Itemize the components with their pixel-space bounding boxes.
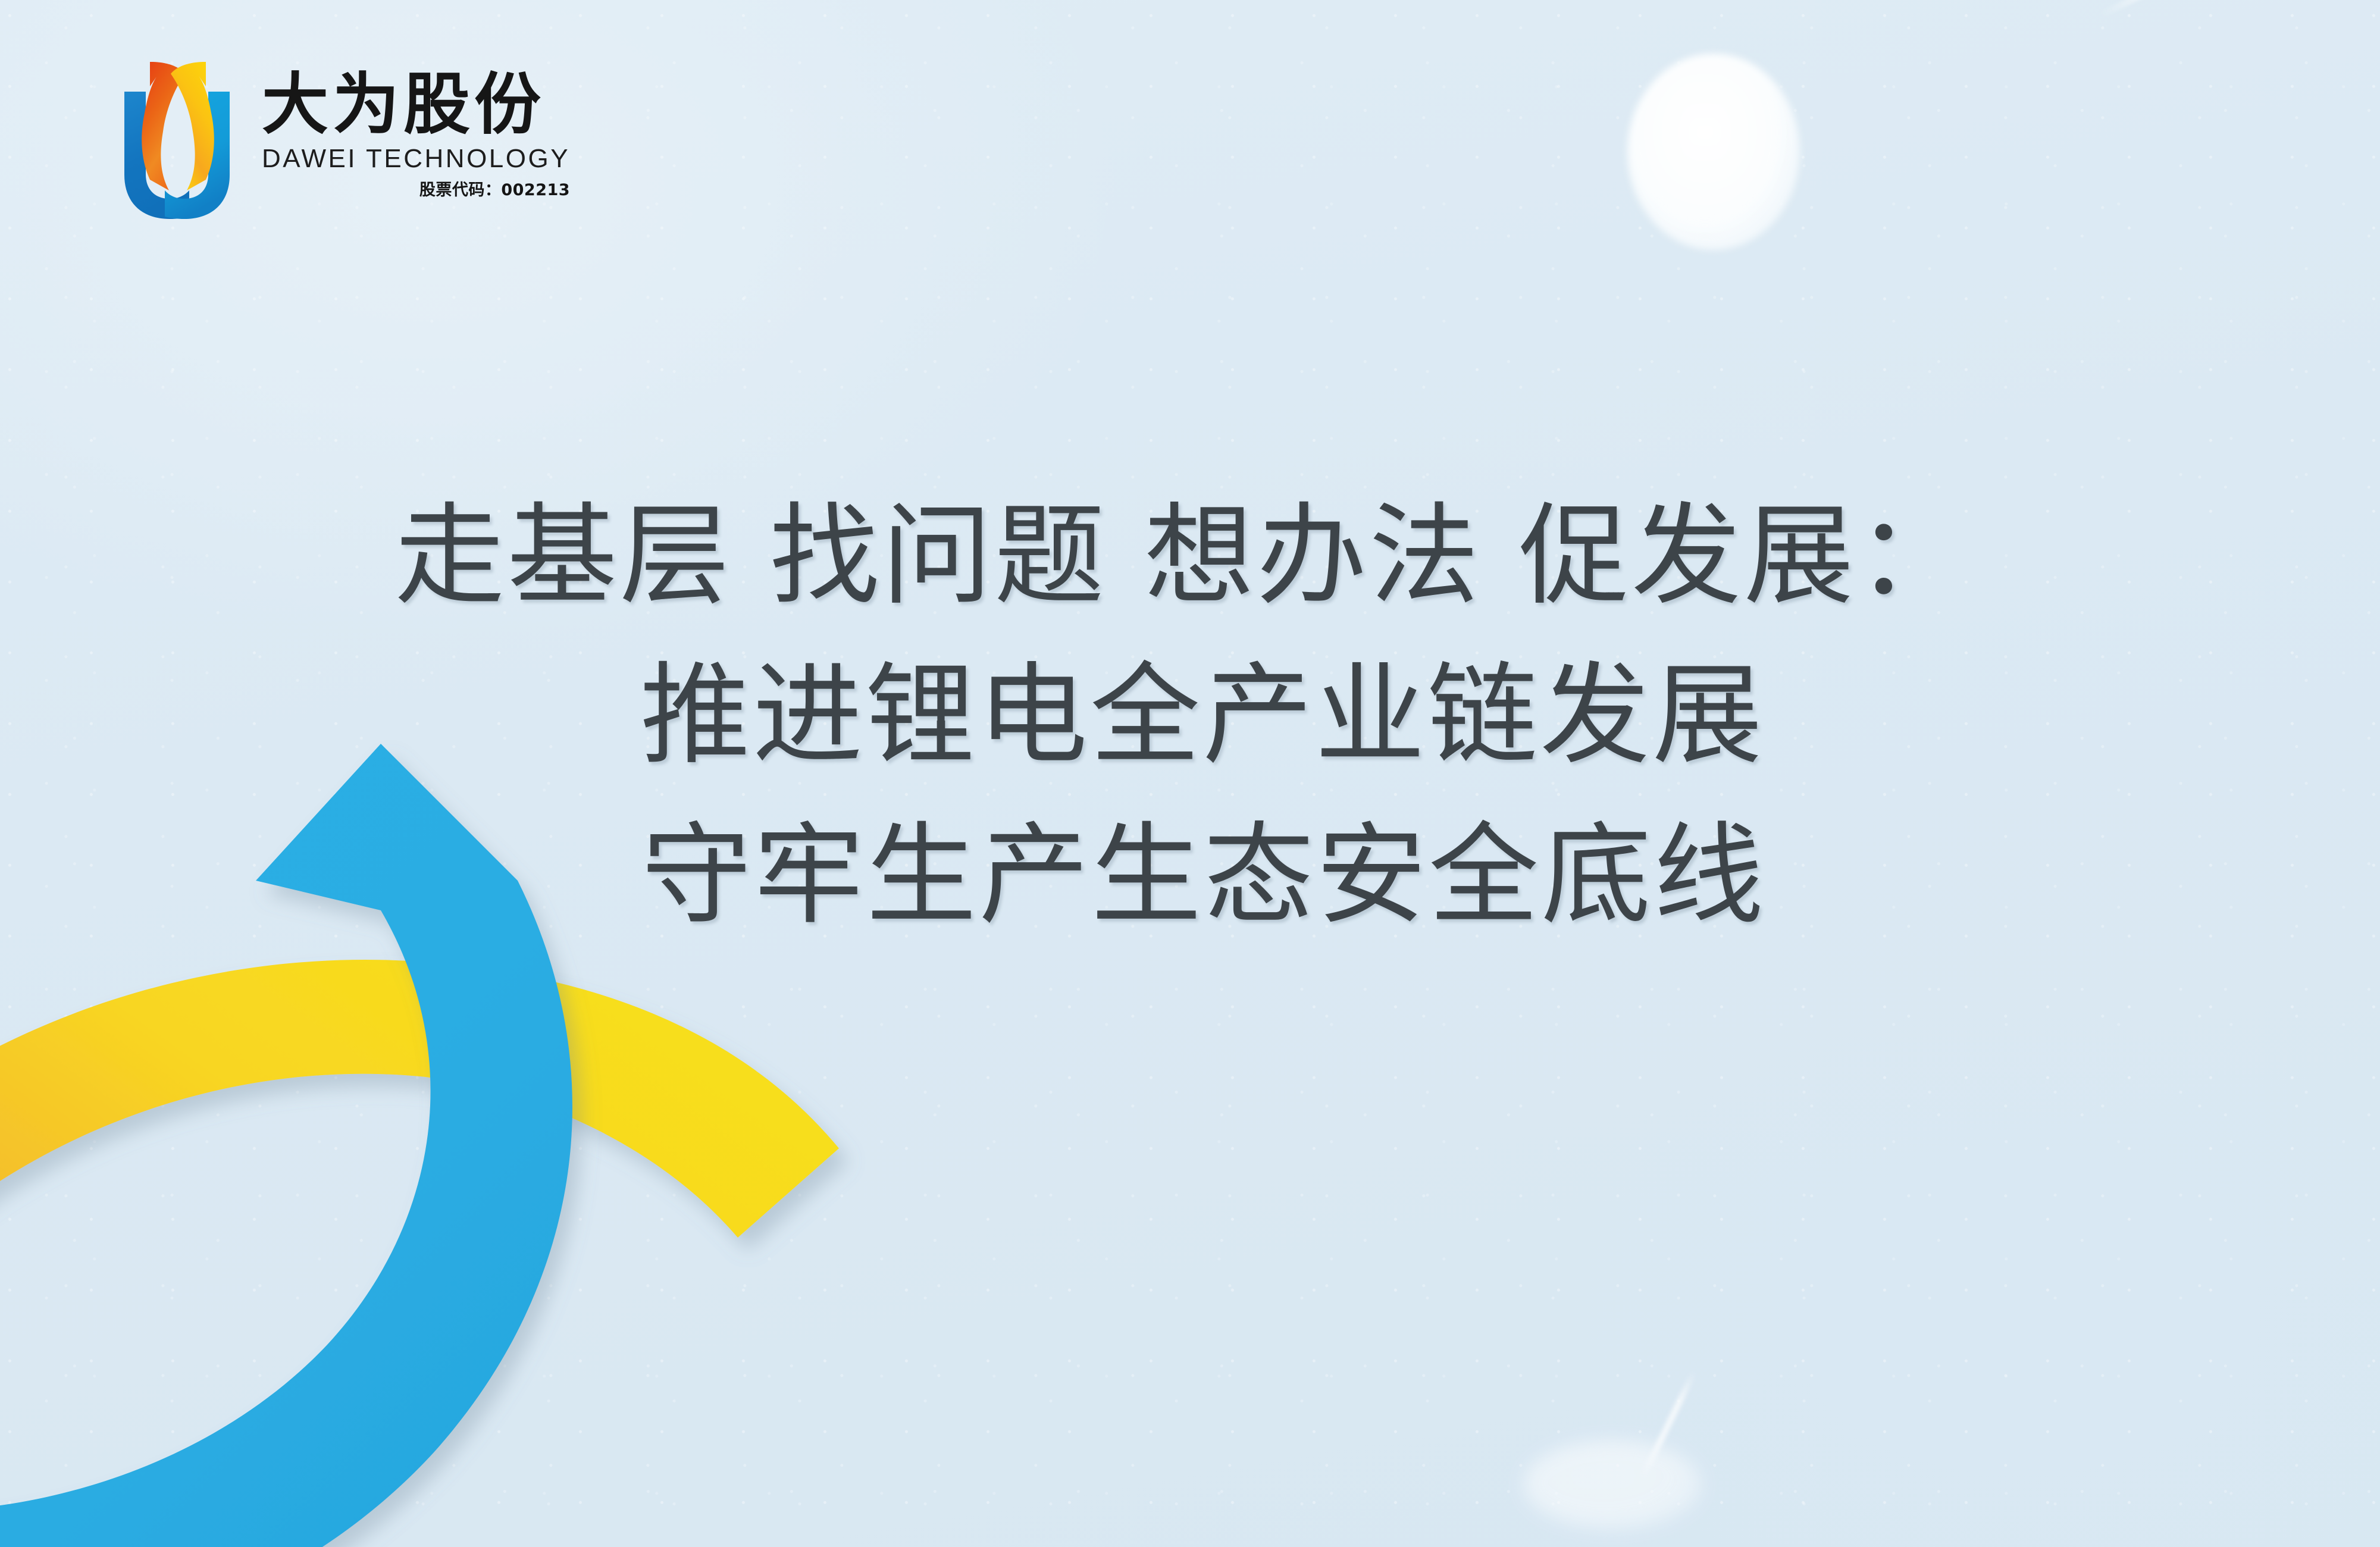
contrail-streak-icon	[2099, 0, 2359, 18]
cloud-icon	[1523, 1440, 1702, 1529]
brand-wordmark: 大为股份 DAWEI TECHNOLOGY 股票代码：002213	[262, 52, 570, 198]
headline-line-1: 走基层 找问题 想办法 促发展：	[0, 476, 2380, 635]
dawei-w-logo-icon	[122, 52, 232, 219]
brand-logo: 大为股份 DAWEI TECHNOLOGY 股票代码：002213	[122, 52, 570, 219]
yellow-arc-ribbon	[0, 960, 839, 1368]
brand-name-en: DAWEI TECHNOLOGY	[262, 146, 570, 172]
banner-canvas: 大为股份 DAWEI TECHNOLOGY 股票代码：002213 走基层 找问…	[0, 0, 2380, 1547]
brand-name-cn: 大为股份	[262, 71, 570, 138]
stock-code-label: 股票代码：002213	[262, 182, 570, 198]
headline-block: 走基层 找问题 想办法 促发展： 推进锂电全产业链发展 守牢生产生态安全底线	[0, 476, 2380, 955]
headline-line-2: 推进锂电全产业链发展	[25, 635, 2380, 795]
cloud-icon	[1627, 54, 1800, 250]
headline-line-3: 守牢生产生态安全底线	[27, 796, 2380, 955]
